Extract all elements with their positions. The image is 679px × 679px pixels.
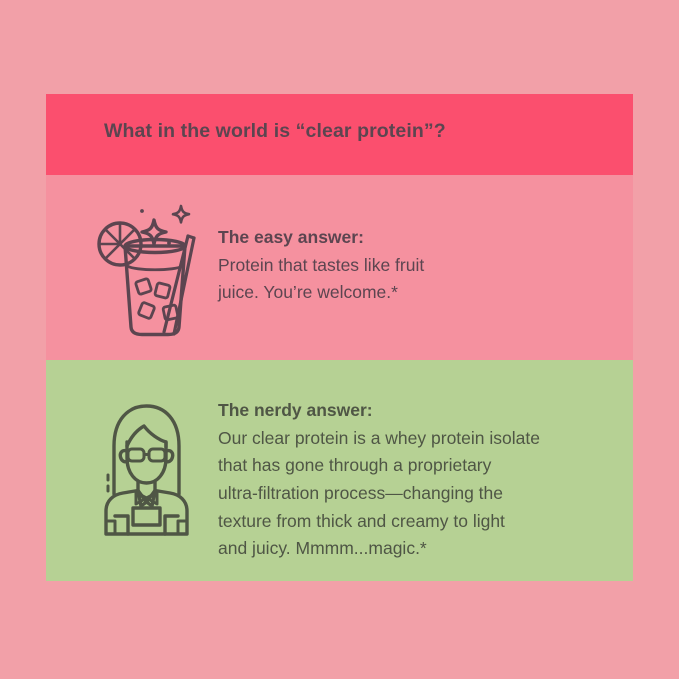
info-card: What in the world is “clear protein”? [46,94,633,581]
nerdy-answer-line: and juicy. Mmmm...magic.* [218,535,540,563]
easy-answer-line: juice. You’re welcome.* [218,279,424,307]
nerdy-answer-line: Our clear protein is a whey protein isol… [218,425,540,453]
nerdy-answer-line: ultra-filtration process—changing the [218,480,540,508]
scientist-person-icon [84,394,209,549]
page-title: What in the world is “clear protein”? [104,120,446,143]
easy-answer-line: Protein that tastes like fruit [218,252,424,280]
drink-glass-icon [90,194,200,344]
nerdy-answer-body: Our clear protein is a whey protein isol… [218,425,540,563]
nerdy-answer-line: texture from thick and creamy to light [218,508,540,536]
nerdy-answer-line: that has gone through a proprietary [218,452,540,480]
easy-answer-heading: The easy answer: [218,226,424,250]
infographic-canvas: What in the world is “clear protein”? [0,0,679,679]
easy-answer-body: Protein that tastes like fruit juice. Yo… [218,252,424,307]
nerdy-answer-heading: The nerdy answer: [218,399,540,423]
nerdy-answer-text: The nerdy answer: Our clear protein is a… [218,399,540,563]
easy-answer-text: The easy answer: Protein that tastes lik… [218,226,424,307]
